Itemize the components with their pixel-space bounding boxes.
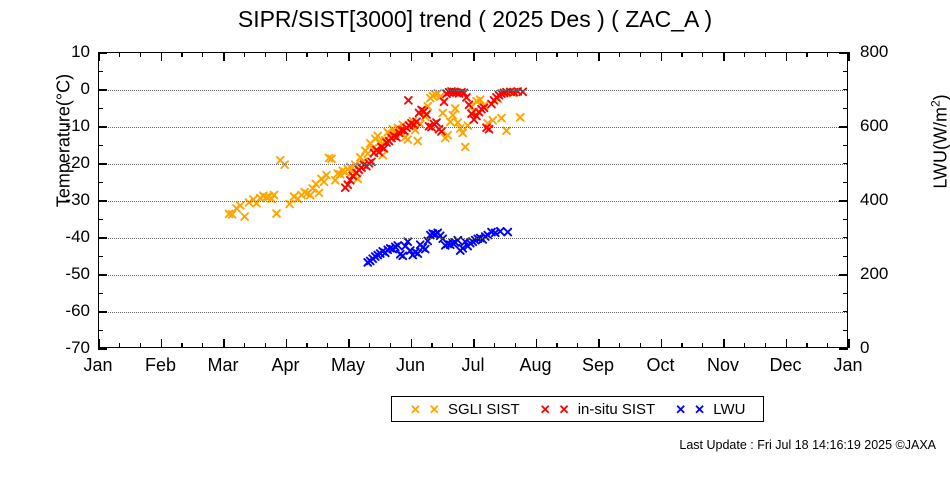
x-axis-tick-major-top — [223, 52, 225, 61]
scatter-point — [494, 95, 501, 102]
x-axis-tick-major-bottom — [411, 339, 413, 348]
scatter-point — [304, 190, 311, 197]
scatter-point — [462, 238, 469, 245]
y-axis-tick-label: 0 — [2, 80, 90, 97]
scatter-point — [349, 168, 356, 175]
scatter-point — [379, 152, 386, 159]
scatter-point — [387, 245, 394, 252]
scatter-point — [476, 109, 483, 116]
scatter-point — [452, 105, 459, 112]
scatter-point — [416, 110, 423, 117]
scatter-point — [367, 140, 374, 147]
y-axis-tick-label: -20 — [2, 154, 90, 171]
scatter-point — [394, 242, 401, 249]
scatter-point — [408, 120, 415, 127]
scatter-point — [384, 246, 391, 253]
x-axis-tick-minor-top — [369, 52, 370, 57]
x-axis-tick-minor-bottom — [369, 343, 370, 348]
x-axis-tick-minor-top — [265, 52, 266, 57]
x-axis-tick-major-top — [598, 52, 600, 61]
scatter-point — [357, 154, 364, 161]
x-axis-tick-minor-top — [577, 52, 578, 57]
scatter-point — [339, 167, 346, 174]
scatter-point — [309, 185, 316, 192]
scatter-point — [364, 150, 371, 157]
y-axis-tick-major — [98, 237, 107, 239]
scatter-point — [397, 251, 404, 258]
scatter-point — [452, 239, 459, 246]
scatter-point — [342, 169, 349, 176]
scatter-point — [469, 238, 476, 245]
scatter-point — [377, 250, 384, 257]
scatter-point — [402, 243, 409, 250]
y-axis-tick-minor — [98, 182, 103, 183]
scatter-point — [323, 172, 330, 179]
scatter-point — [266, 193, 273, 200]
y-axis-title-right-text: LWU(W/m — [931, 107, 950, 189]
scatter-point — [312, 181, 319, 188]
x-axis-tick-label: Jan — [808, 356, 888, 374]
scatter-point — [478, 106, 485, 113]
y2-axis-tick-minor — [843, 219, 848, 220]
scatter-point — [439, 110, 446, 117]
x-axis-tick-minor-bottom — [744, 343, 745, 348]
scatter-point — [427, 95, 434, 102]
scatter-point — [459, 245, 466, 252]
scatter-point — [467, 240, 474, 247]
scatter-point — [469, 238, 476, 245]
scatter-point — [449, 112, 456, 119]
x-axis-tick-major-bottom — [661, 339, 663, 348]
scatter-point — [381, 145, 388, 152]
scatter-point — [291, 193, 298, 200]
y-axis-tick-major — [98, 274, 107, 276]
scatter-point — [334, 170, 341, 177]
y2-axis-tick-major — [839, 348, 848, 350]
scatter-point — [379, 152, 386, 159]
scatter-point — [384, 129, 391, 136]
scatter-point — [419, 107, 426, 114]
x-axis-tick-minor-bottom — [515, 343, 516, 348]
scatter-point — [353, 169, 360, 176]
scatter-point — [241, 213, 248, 220]
y2-axis-tick-minor — [843, 71, 848, 72]
x-axis-tick-minor-bottom — [265, 343, 266, 348]
x-axis-tick-minor-bottom — [119, 343, 120, 348]
scatter-point — [407, 247, 414, 254]
scatter-point — [374, 132, 381, 139]
scatter-point — [349, 172, 356, 179]
scatter-point — [321, 178, 328, 185]
scatter-point — [449, 112, 456, 119]
scatter-point — [459, 130, 466, 137]
y2-axis-tick-major — [839, 126, 848, 128]
scatter-point — [304, 190, 311, 197]
chart-figure: SIPR/SIST[3000] trend ( 2025 Des ) ( ZAC… — [0, 0, 950, 480]
scatter-point — [354, 175, 361, 182]
scatter-point — [392, 130, 399, 137]
scatter-point — [484, 120, 491, 127]
x-axis-tick-major-top — [536, 52, 538, 61]
scatter-point — [488, 229, 495, 236]
scatter-point — [260, 192, 267, 199]
x-axis-tick-major-top — [161, 52, 163, 61]
scatter-point — [383, 139, 390, 146]
scatter-point — [393, 134, 400, 141]
scatter-point — [503, 127, 510, 134]
scatter-point — [378, 144, 385, 151]
y-axis-tick-major — [98, 311, 107, 313]
y-axis-title-right-sup: 2 — [929, 100, 943, 107]
scatter-point — [356, 167, 363, 174]
scatter-point — [416, 110, 423, 117]
scatter-point — [241, 213, 248, 220]
y-axis-tick-minor — [98, 108, 103, 109]
scatter-point — [481, 104, 488, 111]
scatter-point — [466, 101, 473, 108]
scatter-point — [517, 114, 524, 121]
scatter-point — [409, 252, 416, 259]
x-axis-tick-minor-top — [181, 52, 182, 57]
y2-axis-tick-minor — [843, 311, 848, 312]
scatter-point — [432, 91, 439, 98]
scatter-point — [369, 255, 376, 262]
x-axis-tick-major-bottom — [473, 339, 475, 348]
y-axis-tick-label: -60 — [2, 302, 90, 319]
x-axis-tick-minor-bottom — [452, 343, 453, 348]
scatter-point — [379, 248, 386, 255]
scatter-point — [337, 171, 344, 178]
scatter-point — [444, 132, 451, 139]
x-axis-tick-major-top — [286, 52, 288, 61]
x-axis-tick-major-bottom — [223, 339, 225, 348]
scatter-point — [457, 247, 464, 254]
scatter-point — [418, 107, 425, 114]
scatter-point — [493, 94, 500, 101]
scatter-point — [478, 106, 485, 113]
y2-axis-tick-minor — [843, 237, 848, 238]
y-axis-tick-minor — [98, 219, 103, 220]
scatter-point — [358, 164, 365, 171]
scatter-point — [229, 211, 236, 218]
scatter-point — [309, 185, 316, 192]
scatter-point — [344, 166, 351, 173]
y-axis-title-left: Temperature(°C) — [54, 61, 75, 221]
scatter-point — [379, 248, 386, 255]
x-axis-tick-minor-bottom — [619, 343, 620, 348]
scatter-point — [377, 138, 384, 145]
x-axis-tick-minor-bottom — [140, 343, 141, 348]
scatter-point — [452, 239, 459, 246]
scatter-point — [312, 181, 319, 188]
x-axis-tick-minor-top — [640, 52, 641, 57]
x-axis-tick-major-bottom — [598, 339, 600, 348]
scatter-point — [372, 253, 379, 260]
scatter-point — [404, 238, 411, 245]
scatter-point — [371, 150, 378, 157]
scatter-point — [496, 92, 503, 99]
gridline-horizontal — [99, 201, 847, 202]
scatter-point — [381, 145, 388, 152]
y2-axis-tick-minor — [843, 108, 848, 109]
x-axis-tick-minor-bottom — [765, 343, 766, 348]
scatter-point — [271, 192, 278, 199]
x-axis-tick-minor-bottom — [577, 343, 578, 348]
x-axis-tick-major-top — [848, 52, 850, 61]
scatter-point — [233, 205, 240, 212]
scatter-point — [447, 241, 454, 248]
x-axis-tick-major-top — [411, 52, 413, 61]
scatter-point — [434, 229, 441, 236]
scatter-point — [402, 243, 409, 250]
scatter-point — [301, 189, 308, 196]
scatter-point — [291, 193, 298, 200]
y-axis-tick-label: -40 — [2, 228, 90, 245]
scatter-point — [383, 139, 390, 146]
scatter-point — [328, 155, 335, 162]
x-axis-tick-minor-bottom — [556, 343, 557, 348]
scatter-point — [342, 184, 349, 191]
y2-axis-tick-minor — [843, 330, 848, 331]
scatter-point — [277, 157, 284, 164]
scatter-point — [414, 250, 421, 257]
scatter-point — [402, 134, 409, 141]
scatter-point — [466, 101, 473, 108]
x-axis-tick-major-bottom — [161, 339, 163, 348]
y-axis-tick-minor — [98, 330, 103, 331]
scatter-point — [387, 245, 394, 252]
scatter-point — [376, 149, 383, 156]
x-axis-tick-major-bottom — [848, 339, 850, 348]
y2-axis-tick-minor — [843, 293, 848, 294]
scatter-point — [277, 157, 284, 164]
scatter-point — [382, 137, 389, 144]
scatter-point — [433, 119, 440, 126]
scatter-point — [405, 97, 412, 104]
x-axis-tick-major-top — [723, 52, 725, 61]
scatter-point — [371, 150, 378, 157]
scatter-point — [423, 111, 430, 118]
x-axis-tick-minor-top — [765, 52, 766, 57]
y2-axis-tick-minor — [843, 89, 848, 90]
y-axis-tick-label: -10 — [2, 117, 90, 134]
scatter-point — [273, 210, 280, 217]
x-axis-tick-minor-top — [702, 52, 703, 57]
x-axis-tick-major-top — [661, 52, 663, 61]
scatter-point — [414, 250, 421, 257]
scatter-point — [442, 135, 449, 142]
scatter-point — [409, 252, 416, 259]
scatter-point — [468, 110, 475, 117]
x-axis-tick-minor-top — [306, 52, 307, 57]
y-axis-tick-label: -30 — [2, 191, 90, 208]
scatter-point — [473, 98, 480, 105]
scatter-point — [413, 118, 420, 125]
scatter-point — [468, 110, 475, 117]
scatter-point — [298, 192, 305, 199]
x-axis-tick-major-bottom — [286, 339, 288, 348]
scatter-point — [459, 245, 466, 252]
series-lwu — [364, 228, 511, 266]
scatter-point — [399, 252, 406, 259]
scatter-point — [337, 171, 344, 178]
y-axis-tick-minor — [98, 293, 103, 294]
series-in-situ-sist — [342, 88, 526, 191]
legend-entry-lwu: ✕✕LWU — [675, 401, 745, 418]
x-axis-tick-major-top — [98, 52, 100, 61]
scatter-point — [442, 242, 449, 249]
scatter-point — [473, 113, 480, 120]
scatter-point — [386, 138, 393, 145]
x-axis-tick-minor-top — [327, 52, 328, 57]
scatter-point — [424, 103, 431, 110]
scatter-point — [437, 93, 444, 100]
scatter-point — [496, 92, 503, 99]
scatter-point — [226, 211, 233, 218]
scatter-point — [384, 129, 391, 136]
scatter-point — [477, 96, 484, 103]
scatter-point — [382, 249, 389, 256]
scatter-point — [432, 231, 439, 238]
x-axis-tick-minor-top — [202, 52, 203, 57]
scatter-point — [298, 192, 305, 199]
scatter-point — [443, 90, 450, 97]
scatter-point — [372, 253, 379, 260]
scatter-point — [342, 169, 349, 176]
scatter-point — [374, 132, 381, 139]
scatter-point — [388, 135, 395, 142]
scatter-point — [392, 243, 399, 250]
scatter-point — [401, 127, 408, 134]
scatter-point — [393, 134, 400, 141]
gridline-horizontal — [99, 127, 847, 128]
x-axis-tick-minor-bottom — [494, 343, 495, 348]
scatter-point — [459, 130, 466, 137]
scatter-point — [468, 104, 475, 111]
scatter-point — [424, 103, 431, 110]
scatter-point — [434, 229, 441, 236]
scatter-point — [397, 251, 404, 258]
scatter-point — [307, 192, 314, 199]
scatter-point — [373, 147, 380, 154]
scatter-point — [389, 246, 396, 253]
scatter-point — [417, 241, 424, 248]
scatter-point — [369, 145, 376, 152]
scatter-point — [464, 243, 471, 250]
y-axis-tick-major — [98, 348, 107, 350]
plot-area — [98, 52, 848, 348]
scatter-point — [481, 102, 488, 109]
scatter-point — [449, 240, 456, 247]
x-axis-tick-minor-top — [744, 52, 745, 57]
scatter-point — [471, 116, 478, 123]
scatter-point — [392, 130, 399, 137]
x-axis-tick-minor-top — [452, 52, 453, 57]
scatter-point — [409, 118, 416, 125]
scatter-point — [391, 132, 398, 139]
x-axis-tick-minor-bottom — [327, 343, 328, 348]
scatter-point — [471, 116, 478, 123]
scatter-point — [438, 128, 445, 135]
scatter-point — [344, 181, 351, 188]
scatter-point — [462, 238, 469, 245]
scatter-point — [481, 102, 488, 109]
scatter-point — [334, 170, 341, 177]
scatter-point — [443, 90, 450, 97]
scatter-point — [367, 258, 374, 265]
scatter-point — [349, 172, 356, 179]
x-axis-tick-minor-top — [244, 52, 245, 57]
scatter-point — [354, 175, 361, 182]
scatter-point — [326, 155, 333, 162]
x-axis-tick-minor-bottom — [806, 343, 807, 348]
scatter-point — [321, 178, 328, 185]
scatter-point — [468, 104, 475, 111]
x-axis-tick-minor-bottom — [244, 343, 245, 348]
scatter-point — [473, 113, 480, 120]
scatter-point — [377, 138, 384, 145]
y2-axis-tick-major — [839, 52, 848, 54]
scatter-point — [356, 167, 363, 174]
scatter-point — [374, 252, 381, 259]
scatter-point — [417, 241, 424, 248]
scatter-point — [497, 228, 504, 235]
scatter-point — [263, 194, 270, 201]
scatter-point — [318, 175, 325, 182]
scatter-point — [344, 166, 351, 173]
scatter-point — [429, 93, 436, 100]
scatter-point — [409, 118, 416, 125]
scatter-point — [369, 255, 376, 262]
scatter-point — [389, 246, 396, 253]
scatter-point — [481, 104, 488, 111]
scatter-point — [497, 228, 504, 235]
scatter-point — [397, 128, 404, 135]
scatter-point — [374, 252, 381, 259]
scatter-point — [388, 135, 395, 142]
x-axis-tick-minor-bottom — [390, 343, 391, 348]
scatter-point — [454, 119, 461, 126]
scatter-point — [432, 231, 439, 238]
scatter-point — [429, 230, 436, 237]
legend-marker-icon: ✕✕ — [675, 403, 709, 416]
scatter-point — [307, 192, 314, 199]
y2-axis-tick-major — [839, 200, 848, 202]
scatter-point — [463, 94, 470, 101]
scatter-point — [301, 189, 308, 196]
scatter-point — [447, 241, 454, 248]
scatter-point — [408, 120, 415, 127]
scatter-point — [391, 132, 398, 139]
legend-entry-in-situ-sist: ✕✕in-situ SIST — [540, 401, 656, 418]
scatter-point — [498, 115, 505, 122]
scatter-point — [441, 98, 448, 105]
legend-marker-icon: ✕✕ — [540, 403, 574, 416]
x-axis-tick-minor-top — [806, 52, 807, 57]
y2-axis-tick-label: 600 — [860, 117, 888, 134]
y2-axis-tick-minor — [843, 182, 848, 183]
scatter-point — [326, 155, 333, 162]
y-axis-tick-minor — [98, 256, 103, 257]
scatter-point — [376, 149, 383, 156]
last-update-footer: Last Update : Fri Jul 18 14:16:19 2025 ©… — [679, 438, 936, 452]
scatter-point — [377, 250, 384, 257]
scatter-point — [392, 243, 399, 250]
scatter-point — [423, 111, 430, 118]
scatter-point — [237, 202, 244, 209]
scatter-point — [367, 140, 374, 147]
scatter-point — [328, 155, 335, 162]
